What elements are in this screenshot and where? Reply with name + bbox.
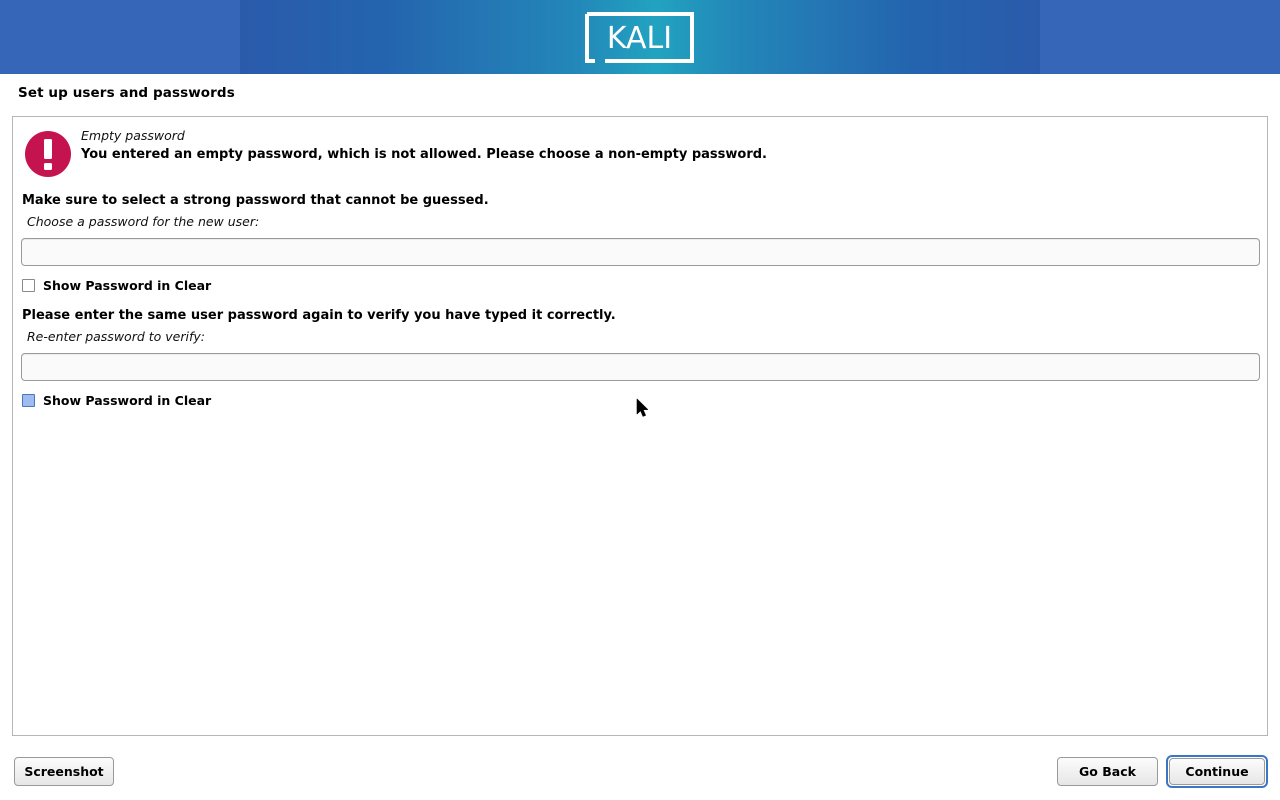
- password-field-label: Choose a password for the new user:: [27, 214, 259, 229]
- error-exclamation-icon: [24, 130, 72, 178]
- continue-button-focus-ring: Continue: [1166, 755, 1268, 788]
- continue-button[interactable]: Continue: [1169, 758, 1265, 785]
- go-back-button[interactable]: Go Back: [1057, 757, 1158, 786]
- verify-field-label: Re-enter password to verify:: [27, 329, 205, 344]
- show-password-label-1: Show Password in Clear: [43, 278, 211, 293]
- show-password-checkbox-1[interactable]: [22, 279, 35, 292]
- kali-banner: KALI: [0, 0, 1280, 74]
- error-description: You entered an empty password, which is …: [81, 147, 767, 162]
- installer-content-panel: Empty password You entered an empty pass…: [12, 116, 1268, 736]
- show-password-checkbox-row-1[interactable]: Show Password in Clear: [22, 277, 211, 293]
- password-input[interactable]: [21, 238, 1260, 266]
- show-password-checkbox-2[interactable]: [22, 394, 35, 407]
- verify-password-notice: Please enter the same user password agai…: [22, 308, 616, 323]
- error-title: Empty password: [81, 128, 185, 143]
- error-message-block: Empty password You entered an empty pass…: [13, 117, 1267, 187]
- kali-logo: KALI: [583, 10, 696, 65]
- show-password-label-2: Show Password in Clear: [43, 393, 211, 408]
- svg-text:KALI: KALI: [607, 21, 672, 56]
- strong-password-notice: Make sure to select a strong password th…: [22, 193, 489, 208]
- verify-password-input[interactable]: [21, 353, 1260, 381]
- page-title: Set up users and passwords: [18, 85, 235, 101]
- screenshot-button[interactable]: Screenshot: [14, 757, 114, 786]
- show-password-checkbox-row-2[interactable]: Show Password in Clear: [22, 392, 211, 408]
